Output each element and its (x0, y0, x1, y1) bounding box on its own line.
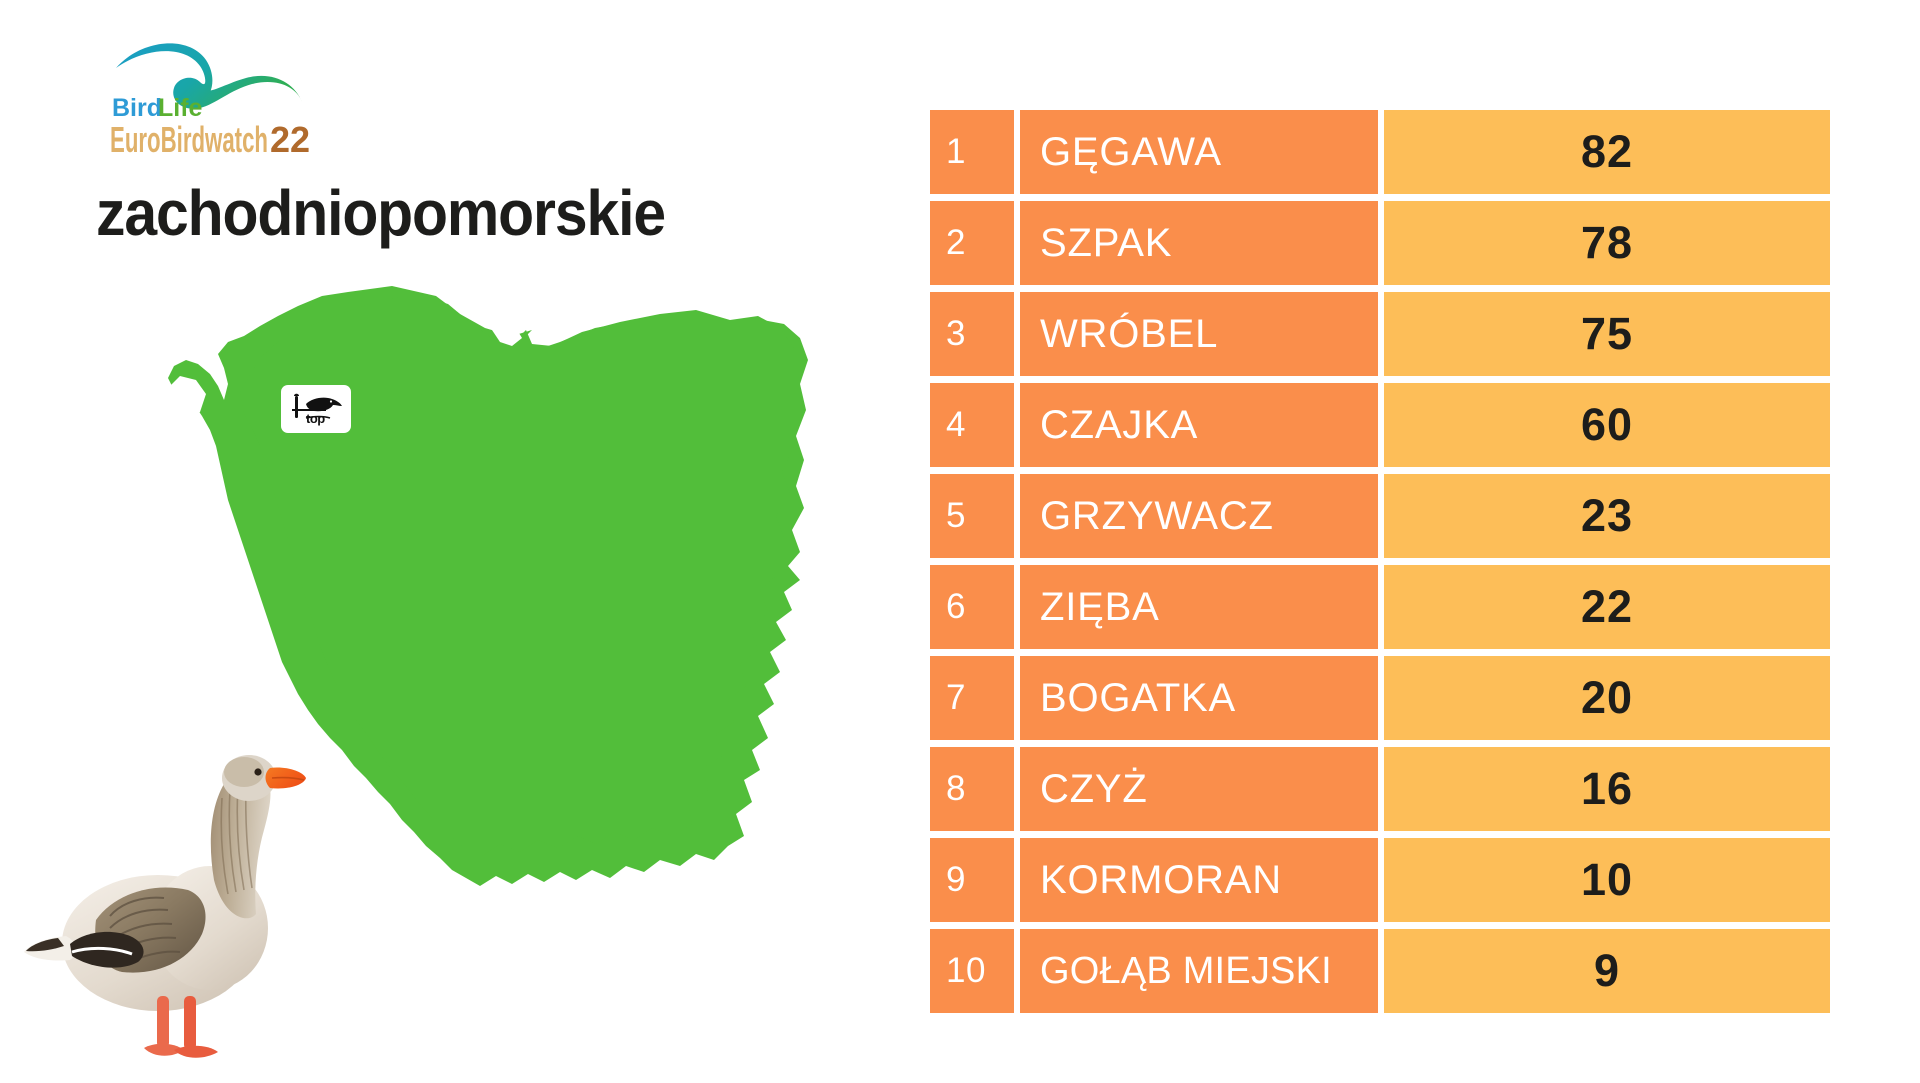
row-rank: 1 (930, 110, 1014, 194)
row-rank: 3 (930, 292, 1014, 376)
row-species: KORMORAN (1020, 838, 1378, 922)
table-row: 4 CZAJKA 60 (930, 383, 1830, 467)
table-row: 2 SZPAK 78 (930, 201, 1830, 285)
logo-eurobirdwatch-word: EuroBirdwatch (110, 119, 268, 158)
left-panel: Bird Life EuroBirdwatch 22 zachodniopomo… (0, 0, 920, 1080)
row-species: GĘGAWA (1020, 110, 1378, 194)
goose-eye (254, 768, 261, 775)
row-species: ZIĘBA (1020, 565, 1378, 649)
table-row: 10 GOŁĄB MIEJSKI 9 (930, 929, 1830, 1013)
otop-logo-marker: top (281, 385, 351, 433)
row-count: 16 (1384, 747, 1830, 831)
goose-photo (18, 738, 318, 1083)
row-rank: 10 (930, 929, 1014, 1013)
logo-eurobirdwatch-year: 22 (270, 119, 310, 158)
row-species: SZPAK (1020, 201, 1378, 285)
row-rank: 8 (930, 747, 1014, 831)
logo-birdlife-life: Life (158, 94, 203, 122)
row-count: 23 (1384, 474, 1830, 558)
row-count: 20 (1384, 656, 1830, 740)
row-count: 9 (1384, 929, 1830, 1013)
row-count: 75 (1384, 292, 1830, 376)
otop-word: top (306, 411, 325, 426)
row-rank: 7 (930, 656, 1014, 740)
row-species: BOGATKA (1020, 656, 1378, 740)
logo-birdlife-bird: Bird (112, 94, 162, 122)
row-species: GOŁĄB MIEJSKI (1020, 929, 1378, 1013)
eurobirdwatch-logo: Bird Life EuroBirdwatch 22 (96, 36, 336, 158)
row-count: 78 (1384, 201, 1830, 285)
page-title: zachodniopomorskie (96, 176, 665, 250)
row-rank: 9 (930, 838, 1014, 922)
row-species: CZAJKA (1020, 383, 1378, 467)
table-row: 9 KORMORAN 10 (930, 838, 1830, 922)
table-row: 6 ZIĘBA 22 (930, 565, 1830, 649)
row-count: 82 (1384, 110, 1830, 194)
row-count: 22 (1384, 565, 1830, 649)
table-row: 3 WRÓBEL 75 (930, 292, 1830, 376)
table-row: 5 GRZYWACZ 23 (930, 474, 1830, 558)
row-species: WRÓBEL (1020, 292, 1378, 376)
table-row: 7 BOGATKA 20 (930, 656, 1830, 740)
row-count: 10 (1384, 838, 1830, 922)
table-row: 1 GĘGAWA 82 (930, 110, 1830, 194)
table-row: 8 CZYŻ 16 (930, 747, 1830, 831)
species-ranking-table: 1 GĘGAWA 82 2 SZPAK 78 3 WRÓBEL 75 4 CZA… (930, 110, 1830, 1013)
row-rank: 4 (930, 383, 1014, 467)
row-rank: 5 (930, 474, 1014, 558)
row-species: CZYŻ (1020, 747, 1378, 831)
row-rank: 6 (930, 565, 1014, 649)
row-rank: 2 (930, 201, 1014, 285)
row-count: 60 (1384, 383, 1830, 467)
row-species: GRZYWACZ (1020, 474, 1378, 558)
